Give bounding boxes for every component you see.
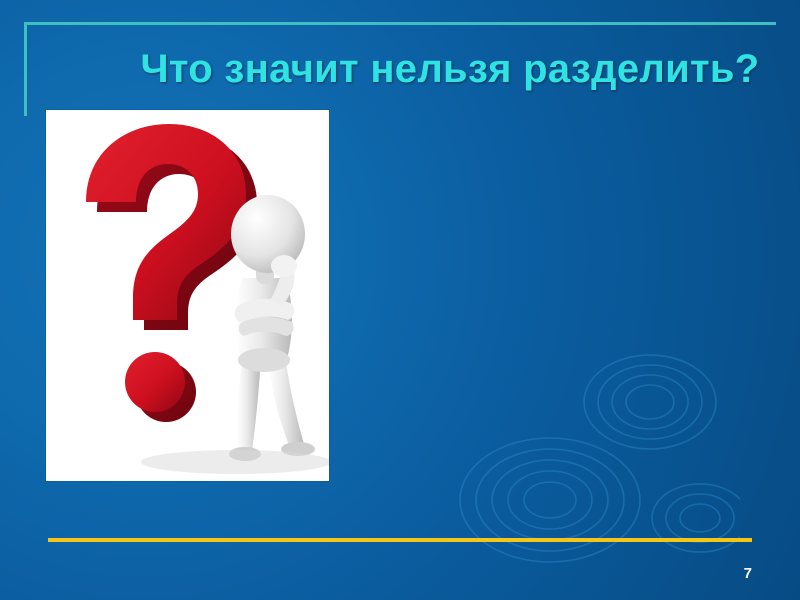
slide-number: 7 — [744, 565, 752, 582]
question-mark-thinking-figure-image — [46, 110, 329, 481]
presentation-slide: Что значит нельзя разделить? — [0, 0, 800, 600]
slide-title: Что значит нельзя разделить? — [120, 44, 780, 95]
yellow-divider-line — [48, 538, 752, 542]
